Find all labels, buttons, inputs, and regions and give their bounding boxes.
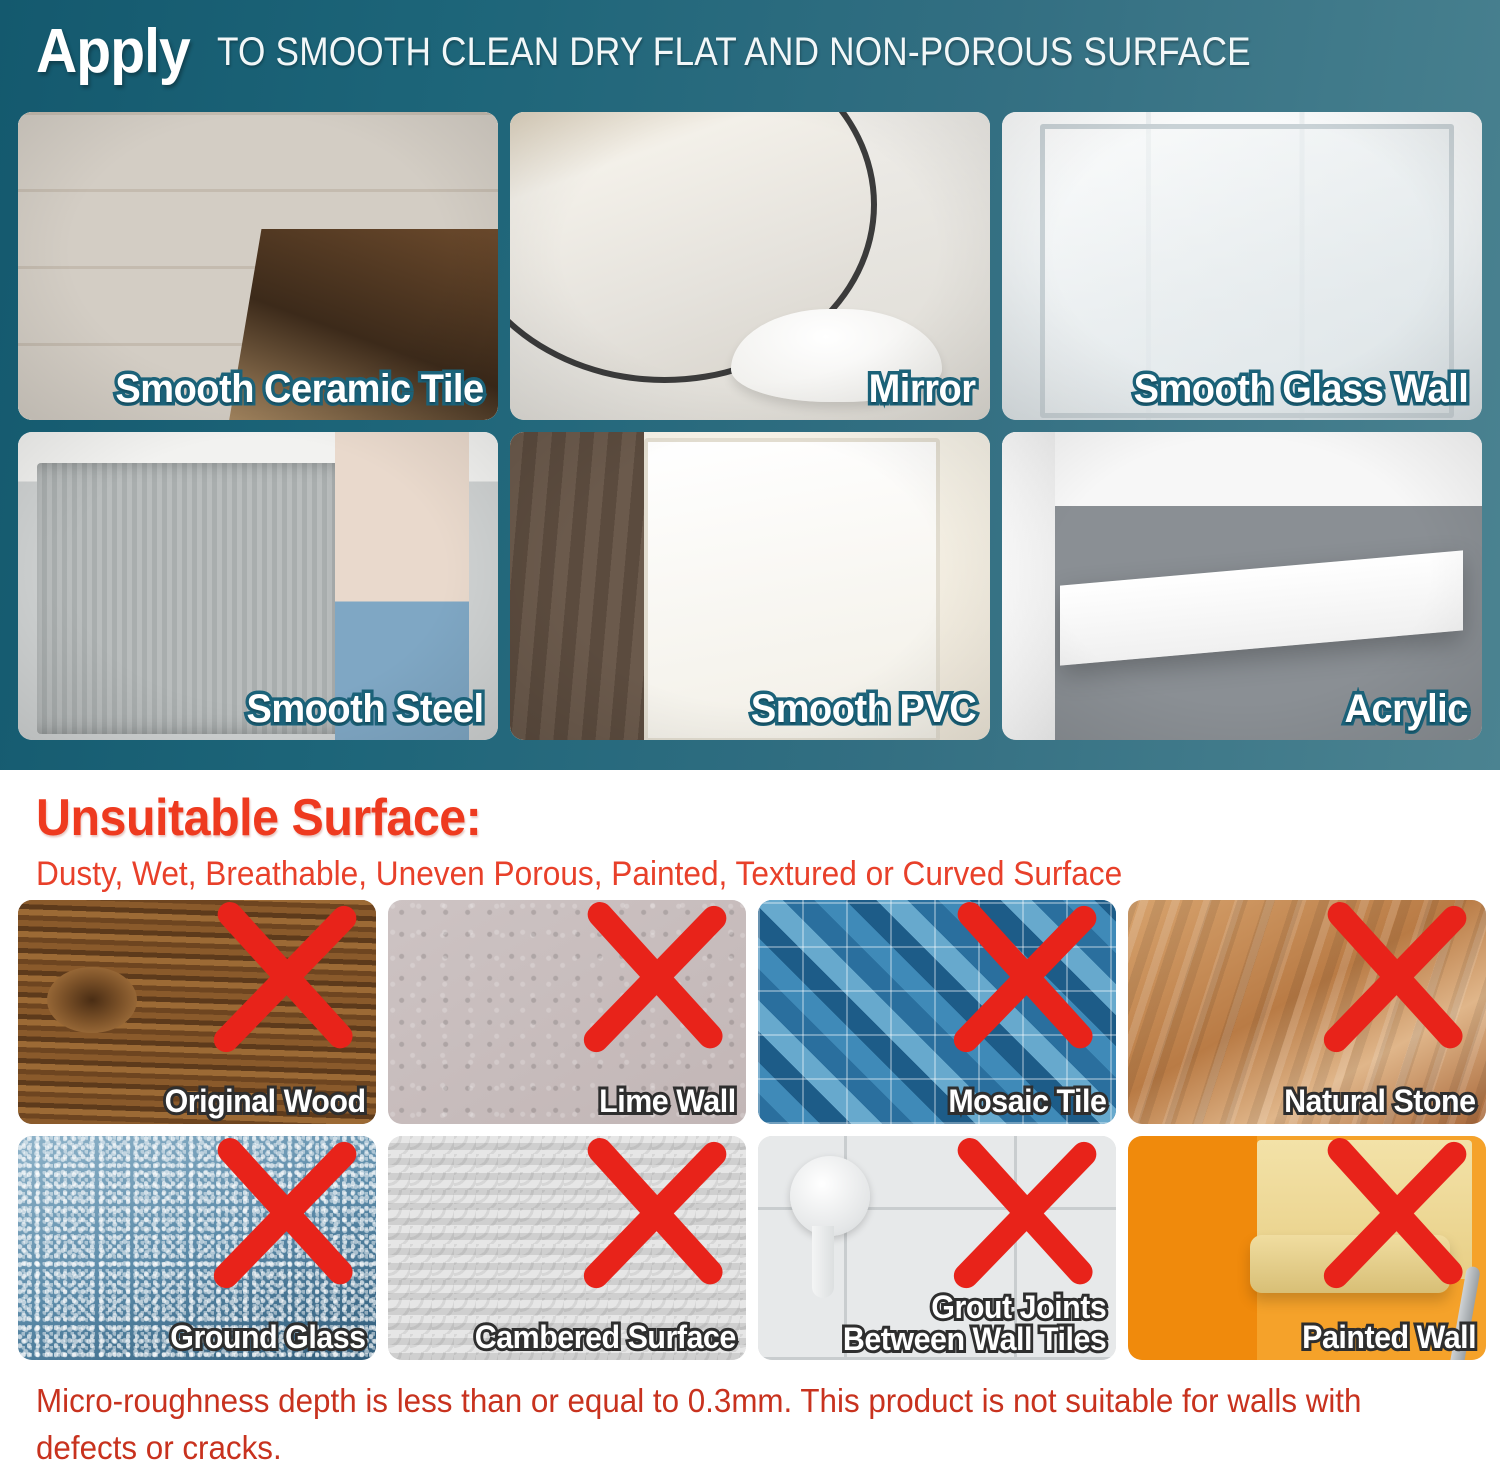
unsuitable-section: Unsuitable Surface: Dusty, Wet, Breathab… [0,770,1500,1463]
apply-section: Apply TO SMOOTH CLEAN DRY FLAT AND NON-P… [0,0,1500,770]
unsuitable-cell-grout-joints-between-wall-tiles: Grout Joints Between Wall Tiles [758,1136,1116,1360]
unsuitable-label-painted-wall: Painted Wall [1302,1321,1476,1354]
suitable-label-smooth-glass-wall: Smooth Glass Wall [1133,367,1468,412]
unsuitable-cell-lime-wall: Lime Wall [388,900,746,1124]
label-line-2: Between Wall Tiles [843,1323,1106,1356]
unsuitable-cell-cambered-surface: Cambered Surface [388,1136,746,1360]
unsuitable-subtitle: Dusty, Wet, Breathable, Uneven Porous, P… [36,854,1122,895]
label-line-1: Grout Joints [843,1291,1106,1324]
unsuitable-label-natural-stone: Natural Stone [1285,1085,1476,1118]
apply-heading-lead: Apply [36,21,190,83]
suitable-cell-mirror: Mirror [510,112,990,420]
unsuitable-label-lime-wall: Lime Wall [600,1085,736,1118]
unsuitable-label-ground-glass: Ground Glass [171,1321,366,1354]
suitable-label-smooth-pvc: Smooth PVC [751,687,976,732]
suitable-cell-smooth-steel: Smooth Steel [18,432,498,740]
unsuitable-title: Unsuitable Surface: [36,792,481,844]
unsuitable-cell-ground-glass: Ground Glass [18,1136,376,1360]
unsuitable-label-cambered-surface: Cambered Surface [475,1321,736,1354]
suitable-label-smooth-ceramic-tile: Smooth Ceramic Tile [116,367,484,412]
unsuitable-cell-natural-stone: Natural Stone [1128,900,1486,1124]
suitable-cell-acrylic: Acrylic [1002,432,1482,740]
apply-heading-rest: TO SMOOTH CLEAN DRY FLAT AND NON-POROUS … [217,32,1251,72]
suitable-label-acrylic: Acrylic [1345,687,1468,732]
unsuitable-label-grout-joints-between-wall-tiles: Grout Joints Between Wall Tiles [843,1291,1106,1356]
suitable-cell-smooth-ceramic-tile: Smooth Ceramic Tile [18,112,498,420]
suitable-label-mirror: Mirror [869,367,976,412]
unsuitable-cell-original-wood: Original Wood [18,900,376,1124]
apply-header: Apply TO SMOOTH CLEAN DRY FLAT AND NON-P… [0,0,1500,104]
suitable-cell-smooth-pvc: Smooth PVC [510,432,990,740]
suitable-cell-smooth-glass-wall: Smooth Glass Wall [1002,112,1482,420]
unsuitable-label-mosaic-tile: Mosaic Tile [948,1085,1106,1118]
unsuitable-cell-painted-wall: Painted Wall [1128,1136,1486,1360]
footnote-text: Micro-roughness depth is less than or eq… [36,1378,1395,1472]
unsuitable-surfaces-grid: Original Wood Lime Wall Mosaic Tile Natu… [18,900,1482,1360]
suitable-label-smooth-steel: Smooth Steel [247,687,484,732]
unsuitable-label-original-wood: Original Wood [165,1085,366,1118]
suitable-surfaces-grid: Smooth Ceramic Tile Mirror Smooth Glass … [18,112,1482,756]
unsuitable-cell-mosaic-tile: Mosaic Tile [758,900,1116,1124]
